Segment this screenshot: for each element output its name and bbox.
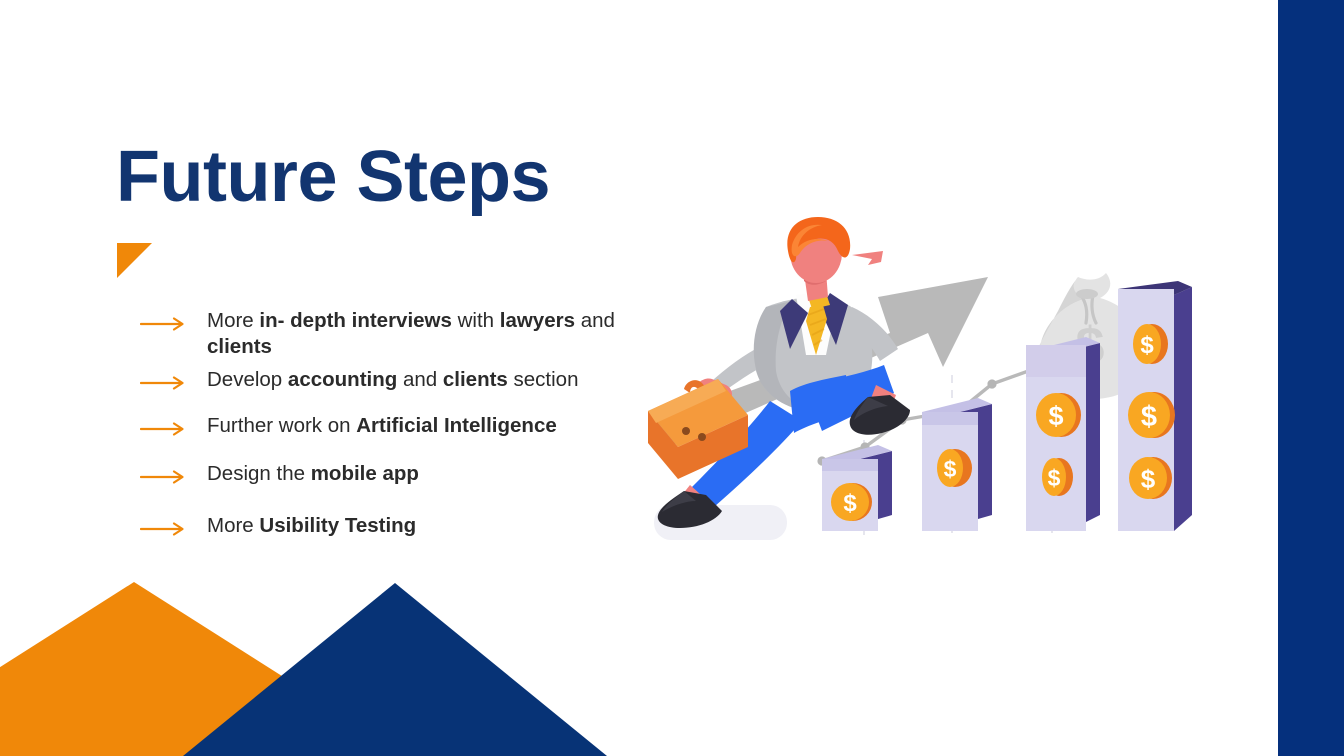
mountain-navy-shape: [183, 583, 607, 756]
coin-icon: $: [1129, 457, 1172, 499]
bullet-text-1: Develop accounting and clients section: [207, 367, 578, 393]
arrow-right-icon: [140, 316, 192, 332]
bullet-list: More in- depth interviews with lawyers a…: [140, 308, 670, 539]
list-item: Design the mobile app: [143, 461, 670, 487]
coin-icon: $: [831, 483, 872, 521]
svg-text:$: $: [1048, 465, 1061, 491]
coin-icon: $: [1133, 324, 1168, 364]
orange-triangle-accent: [117, 243, 152, 278]
svg-text:$: $: [1048, 401, 1063, 431]
list-item: More in- depth interviews with lawyers a…: [140, 308, 670, 360]
bar-4: $ $ $: [1118, 281, 1192, 531]
slide-canvas: Future Steps More in- depth interviews w…: [0, 0, 1344, 756]
svg-text:$: $: [944, 456, 957, 482]
coin-icon: $: [1128, 392, 1175, 438]
arrow-right-icon: [140, 375, 192, 391]
salmon-flag-shape: [852, 251, 883, 265]
bullet-text-4: More Usibility Testing: [207, 513, 416, 539]
list-item: More Usibility Testing: [140, 513, 670, 539]
svg-text:$: $: [1141, 401, 1157, 433]
businessman-climbing-bar-chart-illustration: $ $ $: [640, 215, 1220, 560]
arrow-right-icon: [140, 521, 192, 537]
bar-1: $: [822, 445, 892, 531]
bar-2: $: [922, 398, 992, 531]
arrow-right-icon: [140, 469, 192, 485]
list-item: Further work on Artificial Intelligence: [140, 413, 670, 439]
svg-text:$: $: [843, 490, 857, 517]
coin-icon: $: [1036, 393, 1081, 437]
bar-3: $ $: [1026, 337, 1100, 531]
coin-icon: $: [937, 449, 972, 487]
bullet-text-3: Design the mobile app: [207, 461, 419, 487]
page-title: Future Steps: [116, 141, 550, 213]
bullet-text-0: More in- depth interviews with lawyers a…: [207, 308, 670, 360]
svg-text:$: $: [1141, 464, 1156, 494]
coin-icon: $: [1042, 458, 1073, 496]
right-navy-band: [1278, 0, 1344, 756]
bullet-text-2: Further work on Artificial Intelligence: [207, 413, 557, 439]
svg-text:$: $: [1140, 332, 1154, 359]
arrow-right-icon: [140, 421, 192, 437]
list-item: Develop accounting and clients section: [140, 367, 670, 393]
